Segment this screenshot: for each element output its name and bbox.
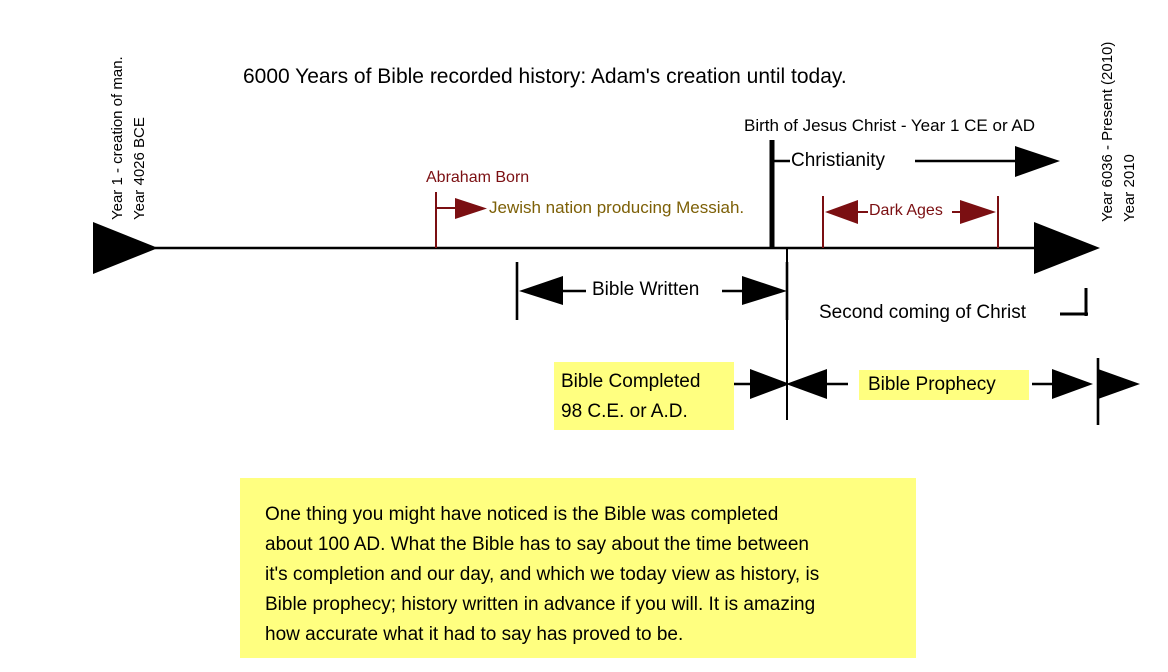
note-line-4: Bible prophecy; history written in advan…: [265, 590, 916, 620]
bible-prophecy-right-arrowhead: [1052, 369, 1093, 399]
bible-prophecy-left-arrowhead: [786, 369, 827, 399]
bible-completed-connector: [730, 369, 790, 399]
birth-of-jesus-label: Birth of Jesus Christ - Year 1 CE or AD: [744, 117, 1035, 134]
jesus-birth-marker: [772, 140, 787, 420]
dark-ages-label: Dark Ages: [869, 203, 943, 219]
dark-ages-left-arrowhead: [825, 200, 858, 224]
christianity-label: Christianity: [791, 151, 885, 170]
axis-right-label-line2: Year 2010: [1122, 154, 1137, 222]
axis-left-label-line1: Year 1 - creation of man.: [110, 56, 125, 220]
bible-written-label: Bible Written: [592, 280, 699, 299]
note-box: One thing you might have noticed is the …: [240, 478, 916, 658]
bible-completed-line2: 98 C.E. or A.D.: [561, 397, 734, 427]
bible-prophecy-future-arrowhead: [1098, 369, 1140, 399]
bible-completed-arrowhead: [750, 369, 790, 399]
bible-completed-line1: Bible Completed: [561, 367, 734, 397]
timeline-diagram: 6000 Years of Bible recorded history: Ad…: [0, 0, 1168, 672]
note-line-5: how accurate what it had to say has prov…: [265, 620, 916, 650]
second-coming-label: Second coming of Christ: [819, 303, 1026, 322]
page-title: 6000 Years of Bible recorded history: Ad…: [243, 66, 847, 87]
axis-right-label-line1: Year 6036 - Present (2010): [1100, 42, 1115, 222]
abraham-born-label: Abraham Born: [426, 170, 529, 186]
note-line-3: it's completion and our day, and which w…: [265, 560, 916, 590]
dark-ages-right-arrowhead: [960, 200, 996, 224]
second-coming-connector: [1060, 288, 1088, 316]
bible-written-right-arrowhead: [742, 276, 787, 305]
note-line-1: One thing you might have noticed is the …: [265, 500, 916, 530]
bible-written-left-arrowhead: [519, 276, 563, 305]
abraham-marker: [436, 192, 487, 248]
note-line-2: about 100 AD. What the Bible has to say …: [265, 530, 916, 560]
jewish-nation-label: Jewish nation producing Messiah.: [489, 199, 744, 216]
main-timeline-axis: [93, 222, 1100, 274]
axis-right-arrowhead: [1034, 222, 1100, 274]
bible-completed-box: Bible Completed 98 C.E. or A.D.: [554, 362, 734, 430]
christianity-arrowhead: [1015, 146, 1060, 177]
axis-left-arrowhead: [93, 222, 158, 274]
axis-left-label-line2: Year 4026 BCE: [132, 117, 147, 220]
bible-prophecy-label: Bible Prophecy: [868, 375, 996, 394]
abraham-arrowhead: [455, 198, 487, 219]
bible-prophecy-box: Bible Prophecy: [859, 370, 1029, 400]
